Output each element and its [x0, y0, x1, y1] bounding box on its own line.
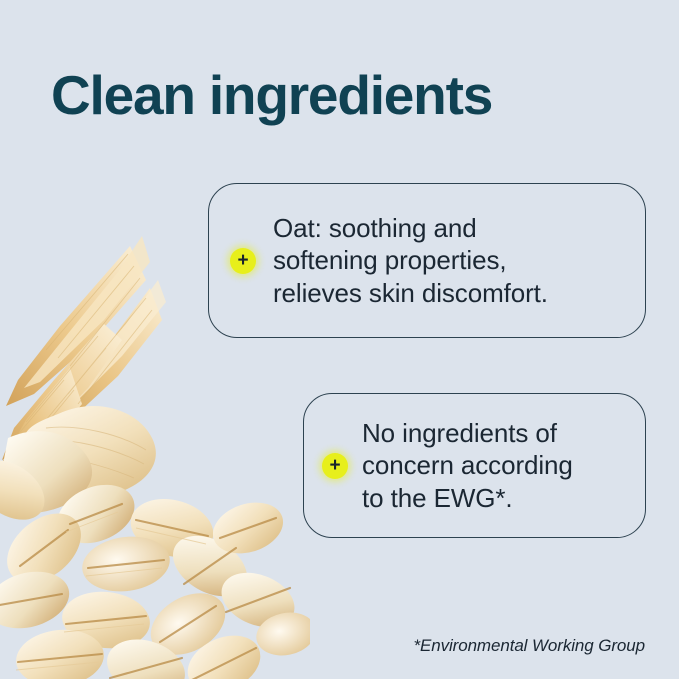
plus-icon: +	[322, 453, 348, 479]
footnote: *Environmental Working Group	[413, 636, 645, 656]
benefit-card-text: Oat: soothing and softening properties, …	[273, 212, 548, 310]
benefit-card-ewg: + No ingredients of concern according to…	[303, 393, 646, 538]
page-title: Clean ingredients	[51, 66, 492, 125]
ingredients-infographic: Clean ingredients + Oat: soothing and so…	[0, 0, 679, 679]
benefit-card-oat: + Oat: soothing and softening properties…	[208, 183, 646, 338]
benefit-card-text: No ingredients of concern according to t…	[362, 417, 573, 515]
plus-icon: +	[230, 248, 256, 274]
